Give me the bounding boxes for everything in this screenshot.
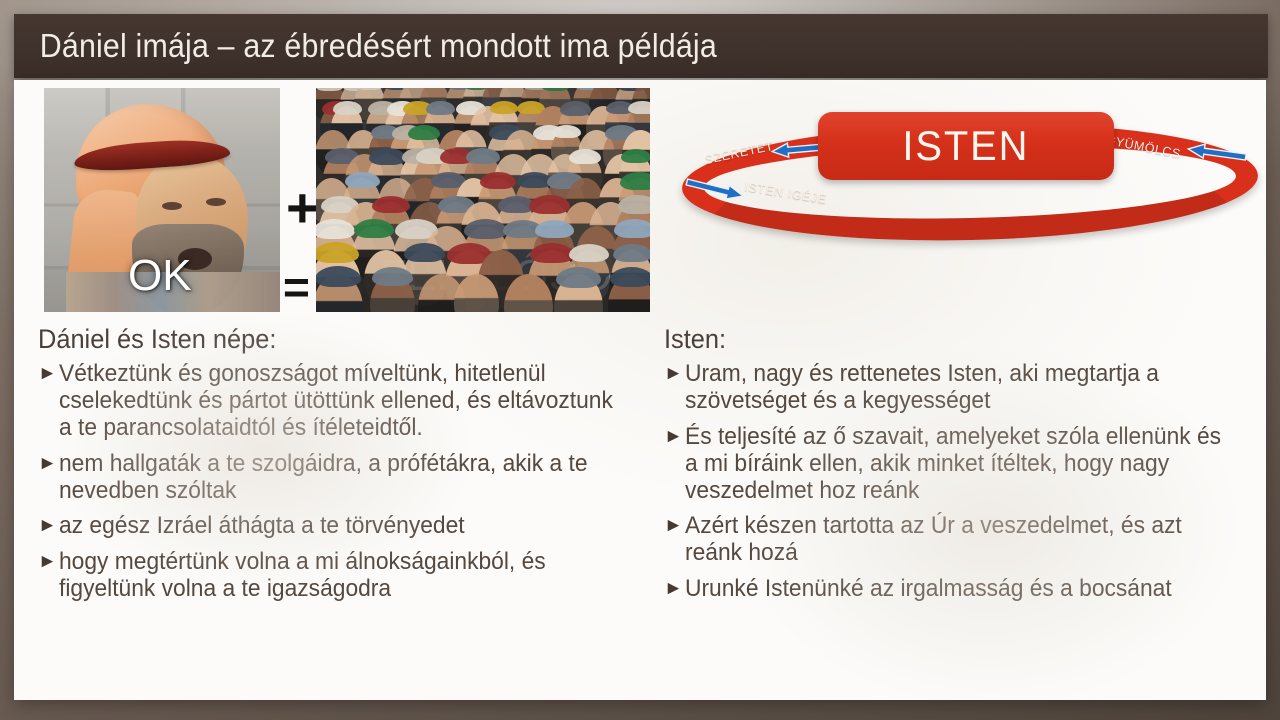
media-row: + = OK FELELŐSÖK bbox=[30, 88, 670, 320]
label-ok: OK bbox=[128, 254, 192, 298]
list-item: ►Azért készen tartotta az Úr a veszedelm… bbox=[664, 513, 1264, 567]
bullet-triangle-icon: ► bbox=[664, 513, 683, 539]
slide: Dániel imája – az ébredésért mondott ima… bbox=[0, 0, 1280, 720]
crowd-figures bbox=[316, 88, 650, 312]
list-item: ►És teljesíté az ő szavait, amelyeket sz… bbox=[664, 424, 1264, 505]
column-heading-left: Dániel és Isten népe: bbox=[38, 324, 623, 355]
column-daniel-es-isten-nepe: Dániel és Isten népe: ►Vétkeztünk és gon… bbox=[38, 324, 660, 612]
isten-center-box: ISTEN bbox=[818, 112, 1114, 180]
eye-right bbox=[206, 198, 226, 206]
list-item: ►az egész Izráel áthágta a te törvényede… bbox=[38, 513, 660, 540]
list-item: ►hogy megtértünk volna a mi álnokságaink… bbox=[38, 549, 660, 603]
list-item-text: Urunké Istenünké az irgalmasság és a boc… bbox=[685, 576, 1172, 603]
list-item-text: És teljesíté az ő szavait, amelyeket szó… bbox=[685, 424, 1235, 505]
slide-title-bar: Dániel imája – az ébredésért mondott ima… bbox=[14, 14, 1268, 78]
bullet-triangle-icon: ► bbox=[38, 361, 57, 387]
list-item: ►Uram, nagy és rettenetes Isten, aki meg… bbox=[664, 361, 1264, 415]
bullet-list-left: ►Vétkeztünk és gonoszságot míveltünk, hi… bbox=[38, 361, 660, 603]
list-item-text: nem hallgaták a te szolgáidra, a prófétá… bbox=[59, 451, 630, 505]
list-item-text: hogy megtértünk volna a mi álnokságainkb… bbox=[59, 549, 630, 603]
column-heading-right: Isten: bbox=[664, 324, 1228, 355]
column-isten: Isten: ►Uram, nagy és rettenetes Isten, … bbox=[664, 324, 1264, 612]
list-item: ►nem hallgaták a te szolgáidra, a prófét… bbox=[38, 451, 660, 505]
bullet-triangle-icon: ► bbox=[664, 576, 683, 602]
list-item-text: Uram, nagy és rettenetes Isten, aki megt… bbox=[685, 361, 1235, 415]
list-item-text: az egész Izráel áthágta a te törvényedet bbox=[59, 513, 465, 540]
equals-operator: = bbox=[283, 264, 310, 310]
page-title: Dániel imája – az ébredésért mondott ima… bbox=[14, 27, 717, 65]
list-item: ►Vétkeztünk és gonoszságot míveltünk, hi… bbox=[38, 361, 660, 442]
bullet-triangle-icon: ► bbox=[38, 451, 57, 477]
bullet-triangle-icon: ► bbox=[664, 424, 683, 450]
isten-cycle-diagram: SZERETET ISTEN IGÉJE GYÜMÖLCS ISTEN bbox=[662, 108, 1280, 308]
plus-operator: + bbox=[286, 180, 319, 236]
list-item-text: Vétkeztünk és gonoszságot míveltünk, hit… bbox=[59, 361, 630, 442]
list-item: ►Urunké Istenünké az irgalmasság és a bo… bbox=[664, 576, 1264, 603]
slide-content-card: + = OK FELELŐSÖK bbox=[14, 80, 1266, 700]
eye-left bbox=[162, 202, 182, 210]
bullet-triangle-icon: ► bbox=[38, 549, 57, 575]
crowd-photo bbox=[316, 88, 650, 312]
bullet-triangle-icon: ► bbox=[664, 361, 683, 387]
list-item-text: Azért készen tartotta az Úr a veszedelme… bbox=[685, 513, 1235, 567]
bullet-triangle-icon: ► bbox=[38, 513, 57, 539]
bullet-list-right: ►Uram, nagy és rettenetes Isten, aki meg… bbox=[664, 361, 1264, 603]
isten-center-label: ISTEN bbox=[902, 122, 1029, 170]
